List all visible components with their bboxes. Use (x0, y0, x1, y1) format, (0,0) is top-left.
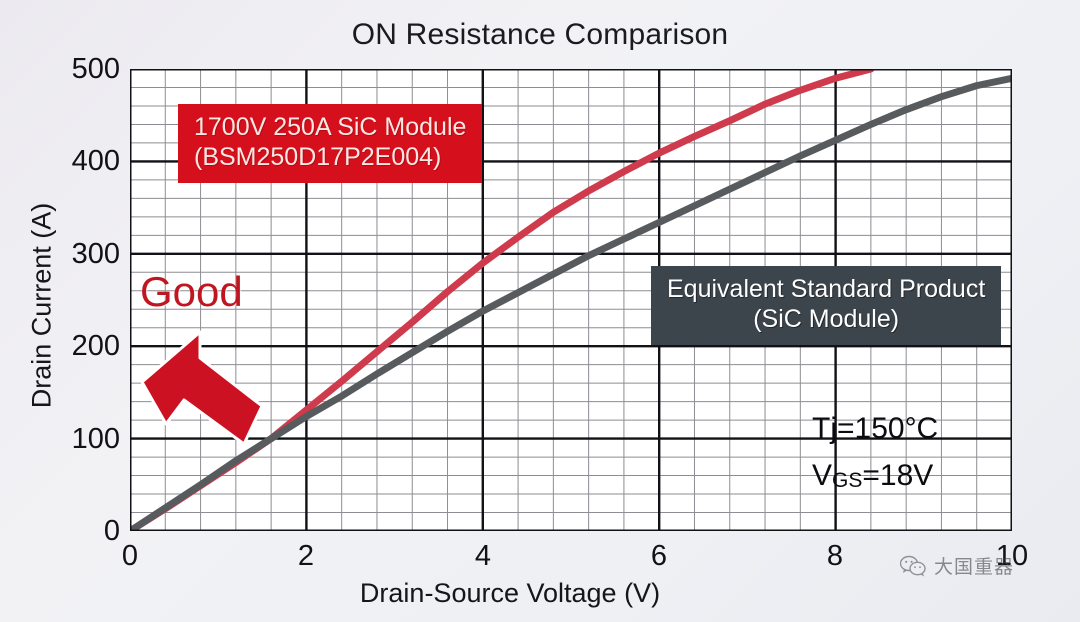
callout-sic-line2: (BSM250D17P2E004) (194, 143, 441, 171)
watermark-text: 大国重器 (934, 552, 1014, 579)
condition-vgs: VGS=18V (812, 453, 938, 500)
good-arrow-icon (138, 320, 278, 450)
y-tick-400: 400 (8, 145, 120, 178)
watermark: 大国重器 (900, 552, 1014, 579)
callout-std-line2: (SiC Module) (667, 305, 985, 335)
x-tick-0: 0 (100, 540, 160, 573)
y-tick-200: 200 (8, 330, 120, 363)
vgs-suffix: =18V (862, 459, 933, 492)
callout-standard-product: Equivalent Standard Product (SiC Module) (651, 266, 1001, 345)
callout-std-line1: Equivalent Standard Product (667, 275, 985, 303)
good-annotation-label: Good (140, 268, 243, 316)
x-tick-2: 2 (276, 540, 336, 573)
callout-sic-line1: 1700V 250A SiC Module (194, 113, 466, 141)
test-conditions: Tj=150°C VGS=18V (812, 406, 938, 499)
y-tick-500: 500 (8, 53, 120, 86)
vgs-prefix: V (812, 459, 832, 492)
condition-tj: Tj=150°C (812, 406, 938, 453)
y-tick-100: 100 (8, 423, 120, 456)
x-tick-6: 6 (629, 540, 689, 573)
wechat-icon (900, 555, 926, 577)
y-tick-300: 300 (8, 238, 120, 271)
vgs-subscript: GS (832, 469, 862, 492)
callout-sic-module: 1700V 250A SiC Module (BSM250D17P2E004) (178, 104, 482, 183)
x-tick-4: 4 (453, 540, 513, 573)
x-tick-8: 8 (805, 540, 865, 573)
chart-figure: ON Resistance Comparison Drain Current (… (0, 0, 1080, 622)
